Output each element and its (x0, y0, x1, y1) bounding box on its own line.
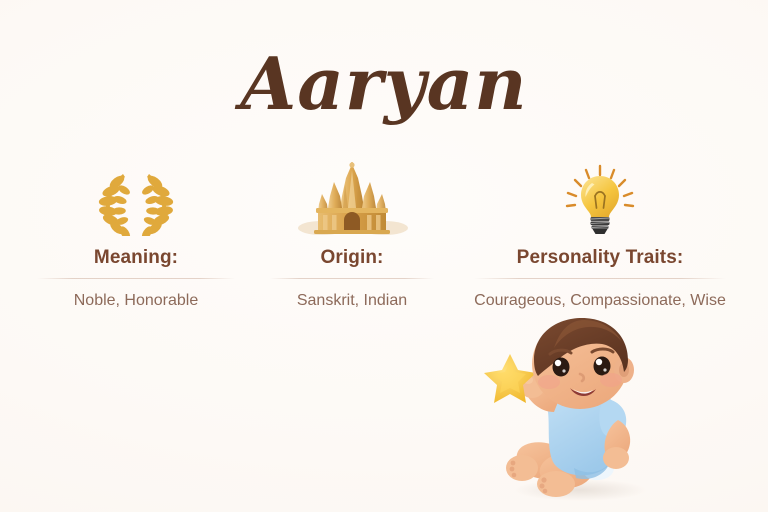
attribute-value: Noble, Honorable (74, 292, 199, 310)
attribute-column-personality: Personality Traits: Courageous, Compassi… (450, 162, 750, 310)
column-divider (37, 278, 235, 279)
lightbulb-idea-icon (556, 162, 644, 236)
page-title: Aaryan (0, 48, 768, 120)
name-card: Aaryan (0, 0, 768, 512)
attribute-value: Sanskrit, Indian (297, 292, 407, 310)
attribute-label: Origin: (321, 247, 384, 269)
attribute-columns: Meaning: Noble, Honorable (0, 162, 768, 310)
baby-holding-star-illustration (476, 316, 676, 512)
hindu-temple-icon (296, 162, 408, 236)
attribute-label: Meaning: (94, 247, 178, 269)
attribute-column-meaning: Meaning: Noble, Honorable (18, 162, 254, 310)
attribute-value: Courageous, Compassionate, Wise (474, 292, 726, 310)
attribute-label: Personality Traits: (517, 247, 684, 269)
attribute-column-origin: Origin: Sanskrit, Indian (254, 162, 450, 310)
column-divider (270, 278, 435, 279)
column-divider (474, 278, 726, 279)
laurel-wreath-icon (93, 162, 179, 236)
